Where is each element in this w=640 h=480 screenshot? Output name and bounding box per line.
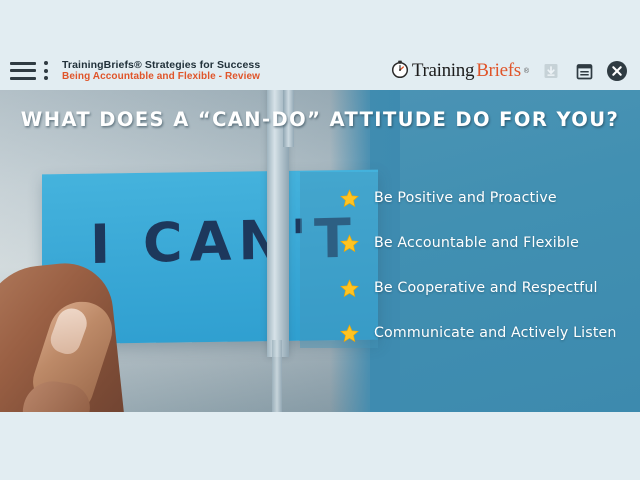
star-icon [340,279,359,298]
star-icon [340,324,359,343]
brand-word-briefs: Briefs [476,60,521,82]
header-right-group: Training Briefs ® [390,59,640,84]
window-bottom-padding [0,412,640,480]
list-item-label: Communicate and Actively Listen [374,325,617,341]
lesson-title: Being Accountable and Flexible - Review [62,71,260,83]
header-left-group: TrainingBriefs® Strategies for Success B… [0,59,260,83]
window-top-padding [0,0,640,52]
hamburger-icon[interactable] [10,62,36,80]
scissors-handle-icon [272,340,282,412]
list-item-label: Be Positive and Proactive [374,190,557,206]
course-title: TrainingBriefs® Strategies for Success [62,59,260,71]
list-item: Be Accountable and Flexible [340,227,632,259]
list-item: Communicate and Actively Listen [340,317,632,349]
player-header: TrainingBriefs® Strategies for Success B… [0,52,640,90]
brand-word-training: Training [412,60,474,82]
list-item-label: Be Cooperative and Respectful [374,280,598,296]
download-icon[interactable] [540,60,562,82]
stopwatch-icon [390,59,410,84]
star-icon [340,189,359,208]
brand-registered-mark: ® [524,68,529,75]
more-options-icon[interactable] [43,61,48,80]
header-titles: TrainingBriefs® Strategies for Success B… [62,59,260,83]
close-icon[interactable] [606,60,628,82]
trainingbriefs-logo: Training Briefs ® [390,59,529,84]
slide-title: WHAT DOES A “CAN-DO” ATTITUDE DO FOR YOU… [0,108,640,131]
star-icon [340,234,359,253]
notes-icon[interactable] [573,60,595,82]
list-item: Be Cooperative and Respectful [340,272,632,304]
slide-canvas: I CAN'T WHAT DOES A “CAN-DO” ATTITUDE DO… [0,90,640,412]
list-item: Be Positive and Proactive [340,182,632,214]
course-player: TrainingBriefs® Strategies for Success B… [0,0,640,480]
bullet-list: Be Positive and Proactive Be Accountable… [340,182,632,349]
list-item-label: Be Accountable and Flexible [374,235,579,251]
